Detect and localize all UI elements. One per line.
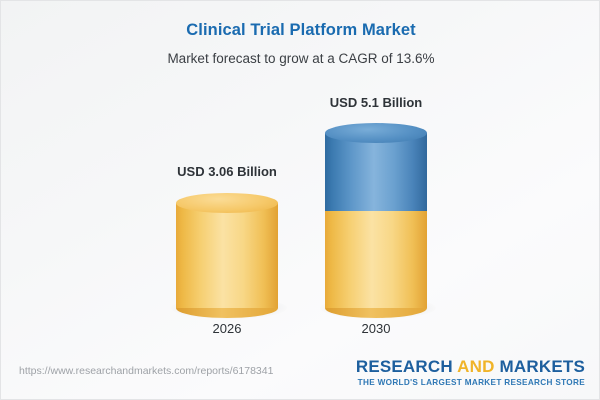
bar-value-label-2026: USD 3.06 Billion — [127, 164, 327, 179]
category-label-2030: 2030 — [276, 321, 476, 336]
cylinder-body-upper-2030 — [325, 133, 427, 211]
cylinder-top-2030 — [325, 123, 427, 143]
chart-footer: https://www.researchandmarkets.com/repor… — [1, 351, 600, 399]
cylinder-body-lower-2030 — [325, 203, 427, 308]
logo-word-markets: MARKETS — [500, 357, 585, 376]
bar-value-label-2030: USD 5.1 Billion — [276, 95, 476, 110]
source-url-link[interactable]: https://www.researchandmarkets.com/repor… — [19, 365, 273, 377]
logo-wordmark: RESEARCH AND MARKETS — [356, 357, 585, 377]
chart-plot-area: USD 3.06 Billion 2026 USD 5.1 Billion — [1, 1, 600, 400]
chart-card: Clinical Trial Platform Market Market fo… — [0, 0, 600, 400]
research-and-markets-logo[interactable]: RESEARCH AND MARKETS THE WORLD'S LARGEST… — [356, 357, 585, 387]
logo-word-research: RESEARCH — [356, 357, 453, 376]
logo-word-and: AND — [457, 357, 494, 376]
cylinder-top-2026 — [176, 193, 278, 213]
cylinder-body-2026 — [176, 203, 278, 308]
logo-tagline: THE WORLD'S LARGEST MARKET RESEARCH STOR… — [356, 378, 585, 387]
